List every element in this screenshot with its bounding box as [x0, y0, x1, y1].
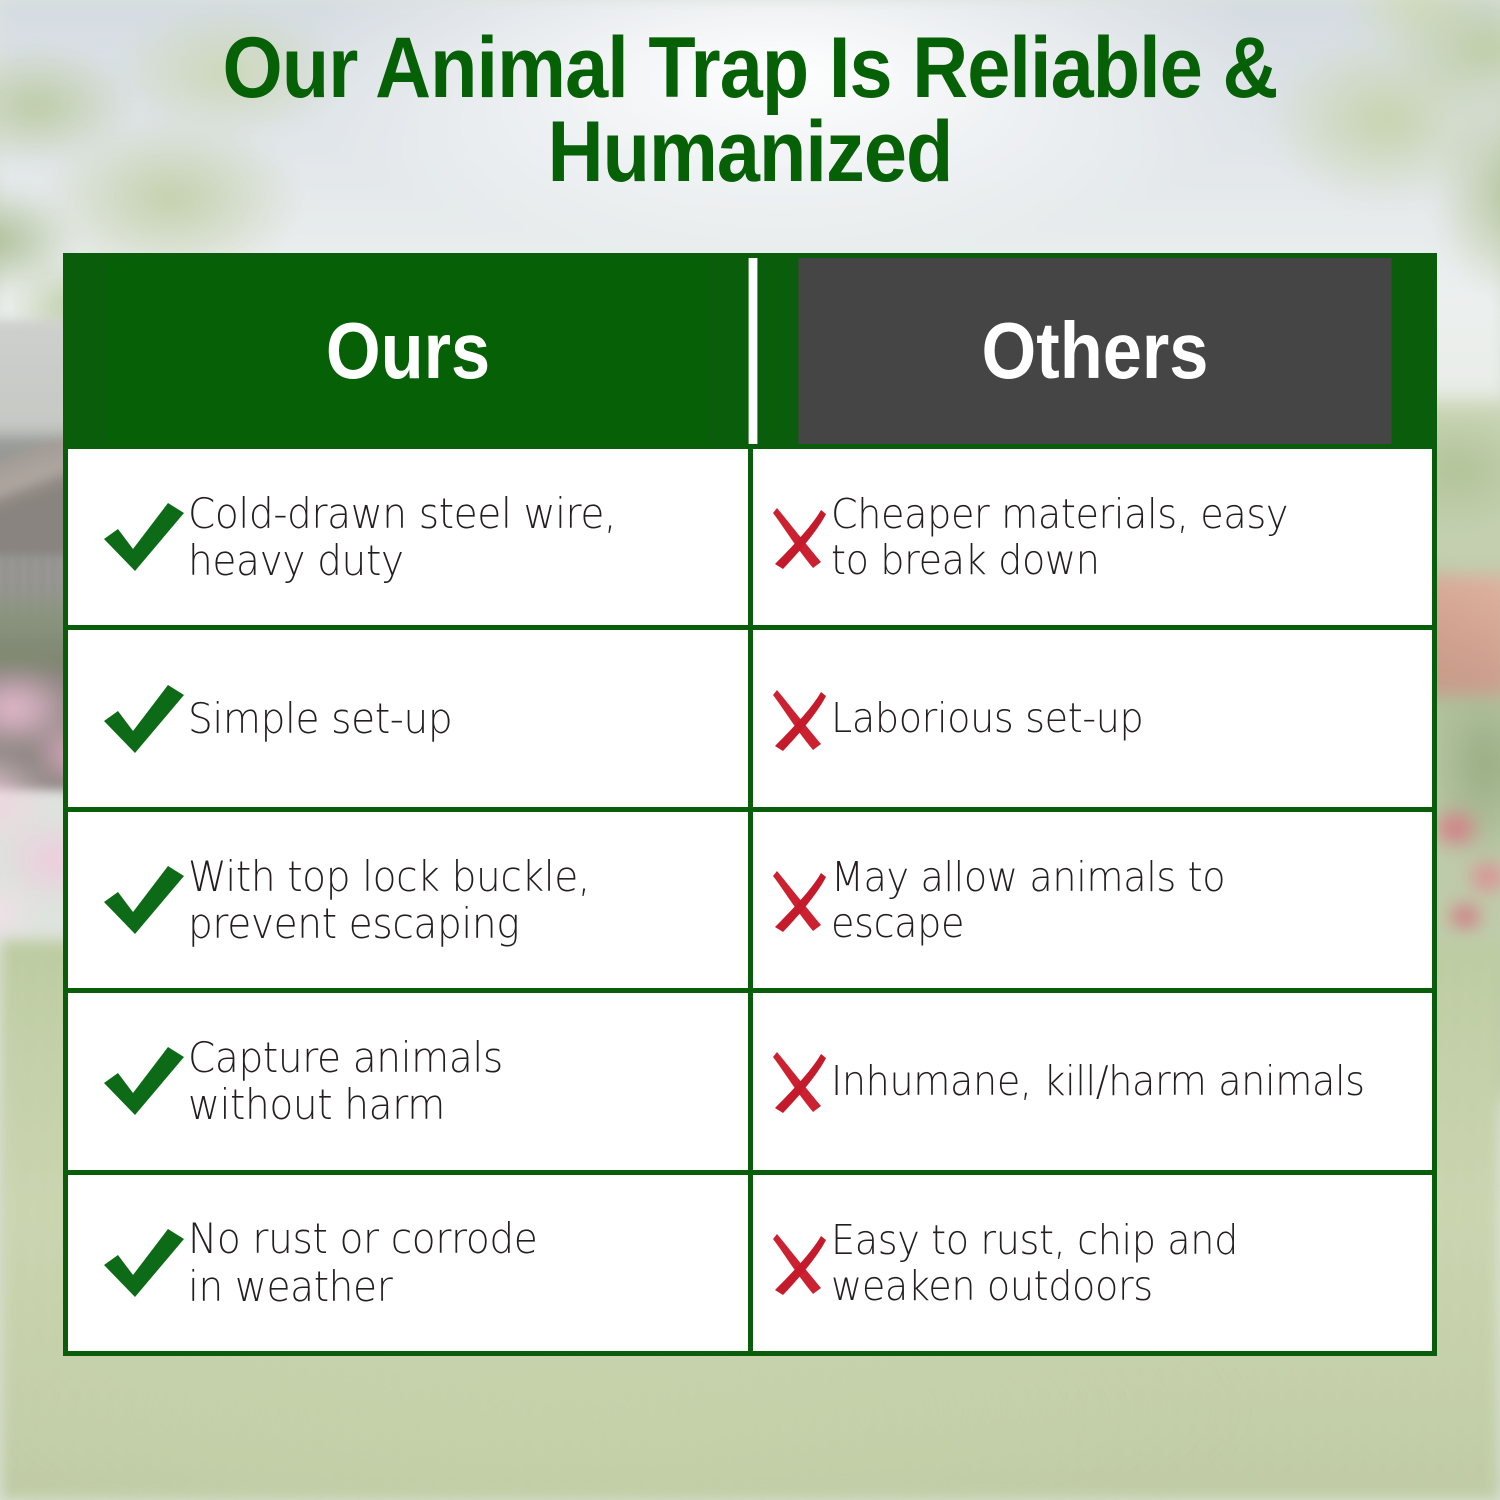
- check-icon: [102, 1227, 186, 1299]
- table-row: Cold-drawn steel wire, heavy duty Cheape…: [68, 449, 1432, 625]
- page-title: Our Animal Trap Is Reliable & Humanized: [138, 26, 1362, 195]
- cell-others: May allow animals to escape: [753, 812, 1432, 988]
- table-row: Simple set-up Laborious set-up: [68, 630, 1432, 806]
- cell-text: May allow animals to escape: [831, 854, 1225, 947]
- cell-others: Laborious set-up: [753, 630, 1432, 806]
- cell-text: Simple set-up: [188, 695, 452, 742]
- header-column-divider: [749, 258, 758, 444]
- cell-text: Easy to rust, chip and weaken outdoors: [831, 1217, 1238, 1310]
- check-icon: [102, 864, 186, 936]
- cross-icon: [771, 867, 827, 933]
- cell-others: Cheaper materials, easy to break down: [753, 449, 1432, 625]
- table-header-row: Ours Others: [68, 258, 1432, 444]
- cell-text: Inhumane, kill/harm animals: [831, 1058, 1365, 1104]
- cell-text: Laborious set-up: [831, 695, 1143, 741]
- check-icon: [102, 501, 186, 573]
- cell-text: With top lock buckle, prevent escaping: [188, 853, 590, 948]
- cell-others: Easy to rust, chip and weaken outdoors: [753, 1175, 1432, 1351]
- cell-ours: Simple set-up: [68, 630, 748, 806]
- cell-ours: With top lock buckle, prevent escaping: [68, 812, 748, 988]
- cell-ours: No rust or corrode in weather: [68, 1175, 748, 1351]
- check-icon: [102, 1045, 186, 1117]
- cross-icon: [771, 504, 827, 570]
- table-row: No rust or corrode in weather Easy to ru…: [68, 1175, 1432, 1351]
- cross-icon: [771, 686, 827, 752]
- cell-text: No rust or corrode in weather: [188, 1215, 537, 1310]
- column-header-others: Others: [798, 258, 1391, 444]
- cross-icon: [771, 1230, 827, 1296]
- table-body: Cold-drawn steel wire, heavy duty Cheape…: [68, 444, 1432, 1351]
- table-row: Capture animals without harm Inhumane, k…: [68, 993, 1432, 1169]
- table-row: With top lock buckle, prevent escaping M…: [68, 812, 1432, 988]
- cell-text: Capture animals without harm: [188, 1034, 503, 1129]
- cell-ours: Capture animals without harm: [68, 993, 748, 1169]
- cross-icon: [771, 1048, 827, 1114]
- cell-text: Cold-drawn steel wire, heavy duty: [188, 490, 616, 585]
- column-header-ours: Ours: [109, 258, 707, 444]
- cell-ours: Cold-drawn steel wire, heavy duty: [68, 449, 748, 625]
- cell-others: Inhumane, kill/harm animals: [753, 993, 1432, 1169]
- comparison-table: Ours Others Cold-drawn steel wire, heavy…: [63, 253, 1437, 1356]
- check-icon: [102, 683, 186, 755]
- cell-text: Cheaper materials, easy to break down: [831, 491, 1288, 584]
